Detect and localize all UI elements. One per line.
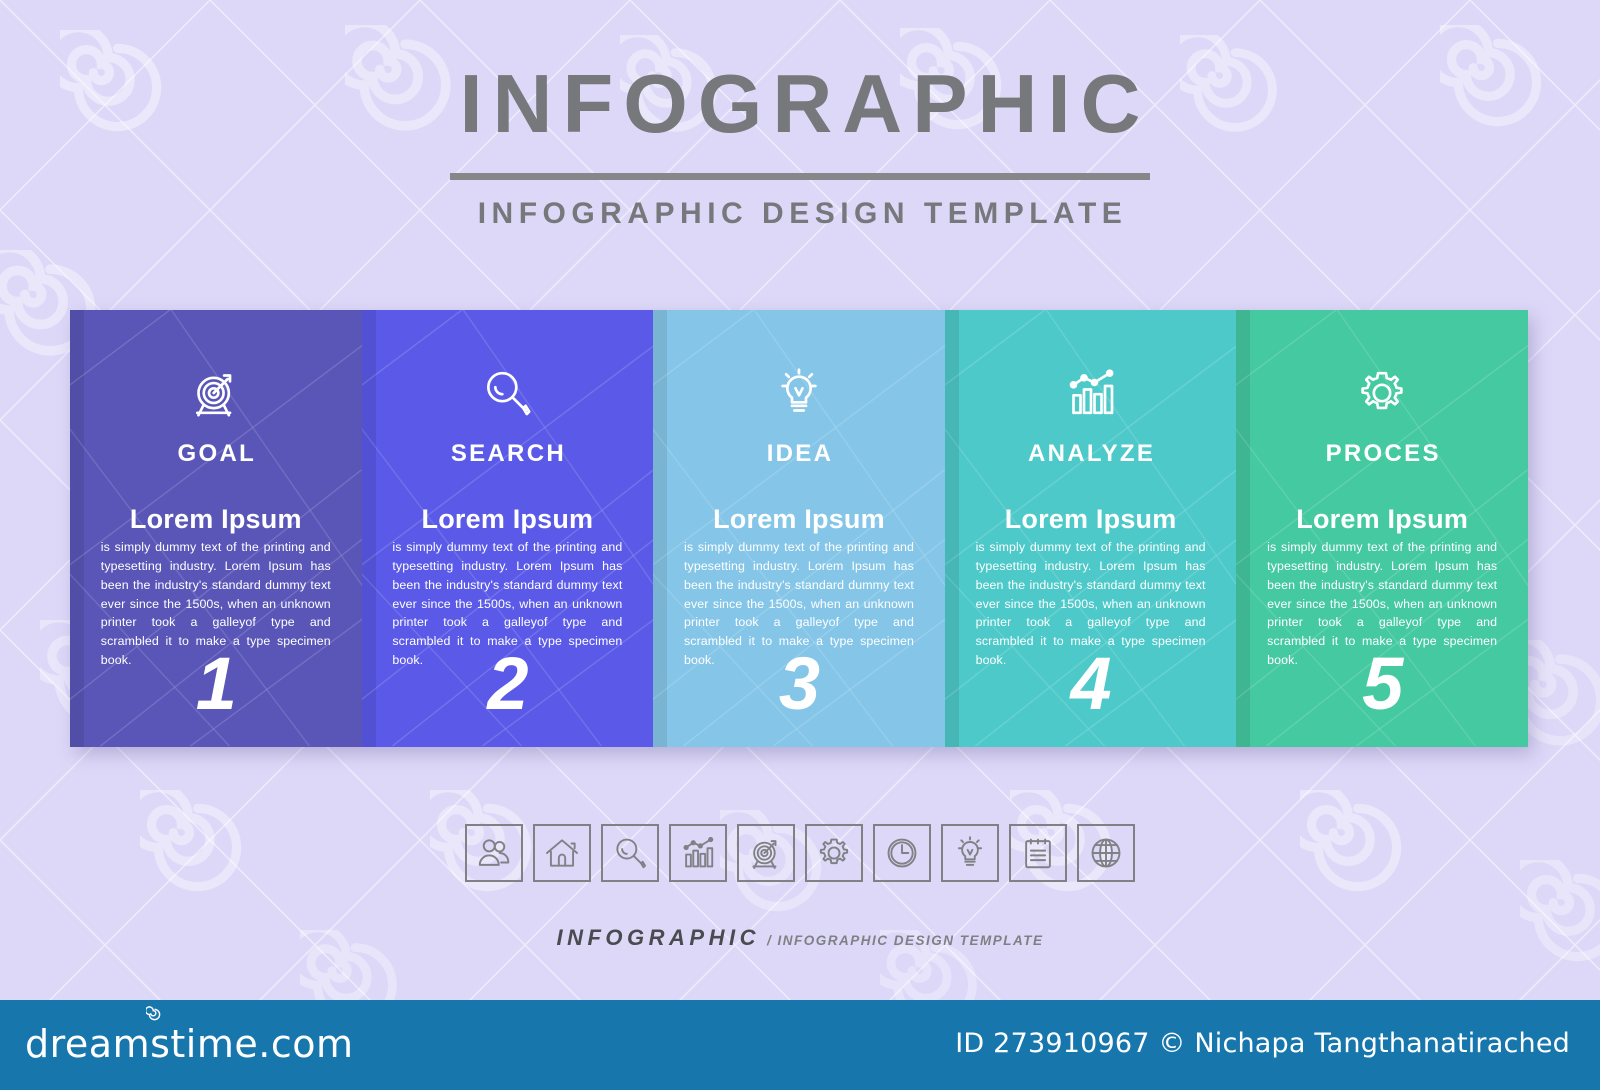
panel-heading: Lorem Ipsum (130, 504, 302, 535)
panel-body-text: is simply dummy text of the printing and… (101, 538, 331, 670)
panel-heading: Lorem Ipsum (1005, 504, 1177, 535)
clock-icon (883, 834, 921, 872)
dreamstime-credit: ID 273910967 © Nichapa Tangthanatirached (955, 1028, 1570, 1059)
strip-icon-box[interactable] (669, 824, 727, 882)
bar-chart-icon (1063, 365, 1119, 421)
dreamstime-logo: dreamstime.com (25, 1022, 353, 1066)
globe-icon (1087, 834, 1125, 872)
infographic-canvas: INFOGRAPHIC INFOGRAPHIC DESIGN TEMPLATE … (0, 0, 1600, 990)
panel-heading: Lorem Ipsum (1296, 504, 1468, 535)
panel-body-text: is simply dummy text of the printing and… (1267, 538, 1497, 670)
panel-label: SEARCH (449, 440, 566, 468)
strip-icon-box[interactable] (941, 824, 999, 882)
magnifier-icon (479, 365, 535, 421)
magnifier-icon (611, 834, 649, 872)
bar-chart-icon (679, 834, 717, 872)
dreamstime-watermark-bar: dreamstime.com ID 273910967 © Nichapa Ta… (0, 1000, 1600, 1090)
dreamstime-spiral-icon (146, 1006, 163, 1023)
gear-icon (1354, 365, 1410, 421)
lightbulb-icon (771, 365, 827, 421)
panel-label: ANALYZE (1026, 440, 1155, 468)
panel-label: GOAL (176, 440, 257, 468)
step-panel-row: GOALLorem Ipsumis simply dummy text of t… (70, 310, 1528, 747)
strip-icon-box[interactable] (465, 824, 523, 882)
step-panel-proces[interactable]: PROCESLorem Ipsumis simply dummy text of… (1236, 310, 1528, 747)
strip-icon-box[interactable] (601, 824, 659, 882)
title-divider (450, 173, 1150, 180)
footer-brand-tagline: / INFOGRAPHIC DESIGN TEMPLATE (767, 933, 1044, 948)
strip-icon-box[interactable] (737, 824, 795, 882)
house-icon (543, 834, 581, 872)
icon-strip (0, 824, 1600, 882)
step-panel-search[interactable]: SEARCHLorem Ipsumis simply dummy text of… (362, 310, 654, 747)
clipboard-icon (1019, 834, 1057, 872)
panel-heading: Lorem Ipsum (422, 504, 594, 535)
footer-brand: INFOGRAPHIC/ INFOGRAPHIC DESIGN TEMPLATE (0, 925, 1600, 951)
panel-heading: Lorem Ipsum (713, 504, 885, 535)
panel-label: IDEA (765, 440, 834, 468)
footer-brand-name: INFOGRAPHIC (556, 925, 760, 950)
lightbulb-icon (951, 834, 989, 872)
step-panel-idea[interactable]: IDEALorem Ipsumis simply dummy text of t… (653, 310, 945, 747)
page-title: INFOGRAPHIC (0, 62, 1600, 145)
panel-body-text: is simply dummy text of the printing and… (392, 538, 622, 670)
strip-icon-box[interactable] (1009, 824, 1067, 882)
strip-icon-box[interactable] (533, 824, 591, 882)
target-icon (188, 365, 244, 421)
header: INFOGRAPHIC INFOGRAPHIC DESIGN TEMPLATE (0, 62, 1600, 231)
strip-icon-box[interactable] (805, 824, 863, 882)
page-subtitle: INFOGRAPHIC DESIGN TEMPLATE (0, 197, 1600, 231)
target-icon (747, 834, 785, 872)
panel-body-text: is simply dummy text of the printing and… (976, 538, 1206, 670)
step-panel-goal[interactable]: GOALLorem Ipsumis simply dummy text of t… (70, 310, 362, 747)
panel-label: PROCES (1324, 440, 1441, 468)
strip-icon-box[interactable] (873, 824, 931, 882)
gear-icon (815, 834, 853, 872)
strip-icon-box[interactable] (1077, 824, 1135, 882)
people-icon (475, 834, 513, 872)
panel-body-text: is simply dummy text of the printing and… (684, 538, 914, 670)
step-panel-analyze[interactable]: ANALYZELorem Ipsumis simply dummy text o… (945, 310, 1237, 747)
